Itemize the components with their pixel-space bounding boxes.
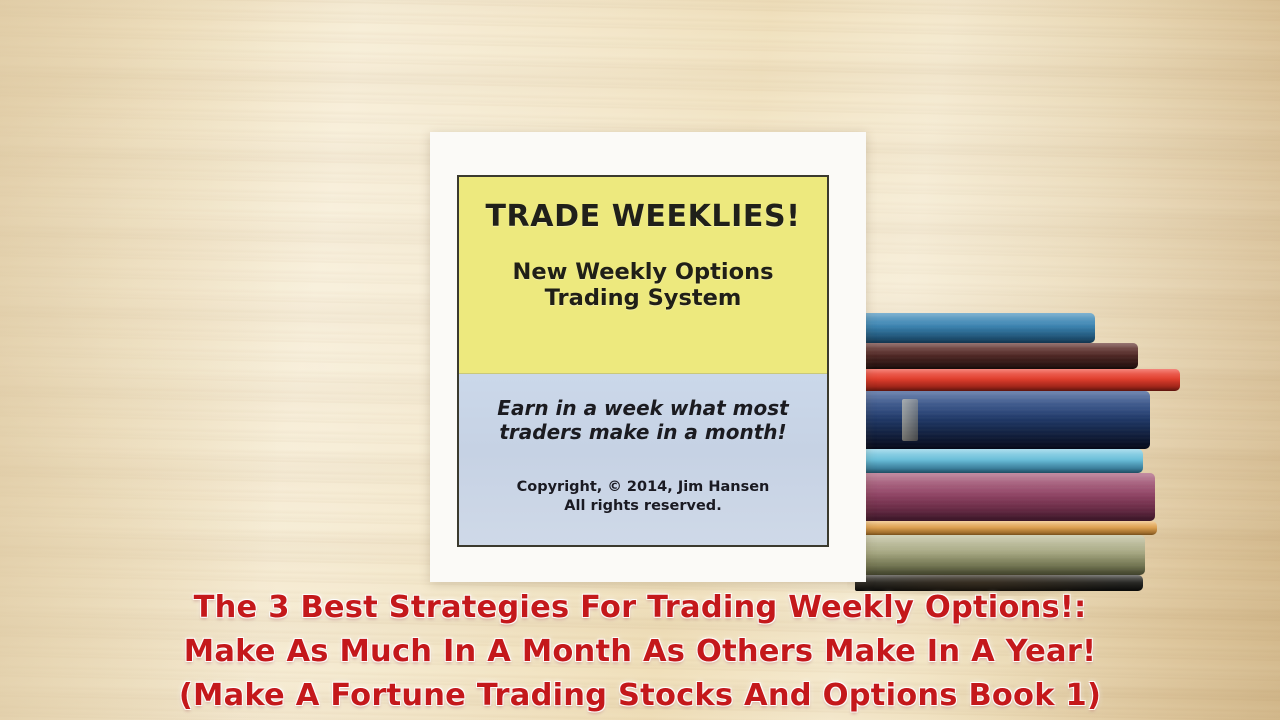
- stack-book-olive-green: [855, 535, 1145, 575]
- book-sheen: [855, 343, 1138, 369]
- book-cover-copyright-line1: Copyright, © 2014, Jim Hansen: [459, 478, 827, 497]
- book-cover-headline: TRADE WEEKLIES!: [459, 201, 827, 233]
- book-cover-subhead: New Weekly Options Trading System: [459, 259, 827, 312]
- book-sheen: [855, 313, 1095, 343]
- book-cover-blue-panel: Earn in a week what most traders make in…: [459, 374, 827, 545]
- stack-book-red: [855, 369, 1180, 391]
- stack-book-dark-maroon: [855, 343, 1138, 369]
- book-sheen: [855, 521, 1157, 535]
- stack-book-burgundy: [855, 473, 1155, 521]
- book-sheen: [855, 535, 1145, 575]
- stack-book-tan-orange: [855, 521, 1157, 535]
- book-cover-yellow-panel: TRADE WEEKLIES! New Weekly Options Tradi…: [459, 177, 827, 374]
- stack-book-navy: [855, 391, 1150, 449]
- book-cover-tagline-line1: Earn in a week what most: [459, 396, 827, 420]
- book-sheen: [855, 369, 1180, 391]
- book-stack-shadow: [847, 574, 1177, 596]
- book-cover-subhead-line2: Trading System: [459, 285, 827, 311]
- book-cover-card: TRADE WEEKLIES! New Weekly Options Tradi…: [430, 132, 866, 582]
- book-sheen: [855, 473, 1155, 521]
- book-cover-tagline: Earn in a week what most traders make in…: [459, 396, 827, 444]
- book-stack: [855, 300, 1195, 590]
- book-sheen: [855, 391, 1150, 449]
- book-cover-subhead-line1: New Weekly Options: [459, 259, 827, 285]
- book-cover-tagline-line2: traders make in a month!: [459, 420, 827, 444]
- book-sheen: [855, 449, 1143, 473]
- book-cover-inner-frame: TRADE WEEKLIES! New Weekly Options Tradi…: [457, 175, 829, 547]
- book-cover-copyright-line2: All rights reserved.: [459, 497, 827, 516]
- stack-book-light-blue: [855, 449, 1143, 473]
- stack-book-steel-blue: [855, 313, 1095, 343]
- screenshot-root: TRADE WEEKLIES! New Weekly Options Tradi…: [0, 0, 1280, 720]
- book-cover-copyright: Copyright, © 2014, Jim Hansen All rights…: [459, 478, 827, 516]
